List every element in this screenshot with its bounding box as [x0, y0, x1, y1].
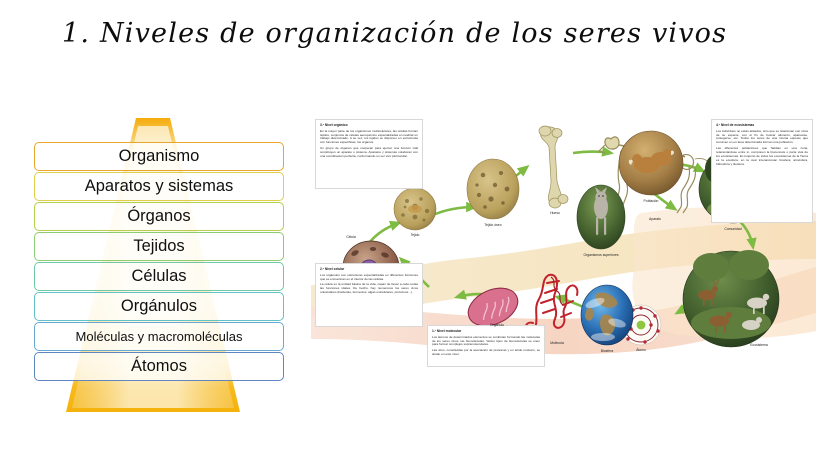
caption-organulo: Orgánulo: [490, 323, 504, 327]
caption-poblacion: Población: [644, 199, 659, 203]
textbox-paragraph: La célula es la unidad básica de la vida…: [320, 283, 418, 295]
pyramid-level-label: Aparatos y sistemas: [85, 178, 234, 195]
pyramid-level-atomos[interactable]: Átomos: [34, 352, 284, 381]
caption-molecula: Molécula: [550, 341, 564, 345]
pyramid-level-label: Órganos: [127, 208, 190, 225]
caption-hueso: Hueso: [550, 211, 560, 215]
textbox-paragraph: Las diferentes poblaciones que habitan e…: [716, 147, 808, 167]
pyramid-level-tejidos[interactable]: Tejidos: [34, 232, 284, 261]
bone-tissue-illustration: [467, 159, 519, 219]
textbox-paragraph: Los individuos no están aislados, sino q…: [716, 130, 808, 146]
textbox-heading: 1.º Nivel molecular: [432, 330, 540, 334]
pyramid-level-organismo[interactable]: Organismo: [34, 142, 284, 171]
pyramid-level-label: Moléculas y macromoléculas: [76, 330, 243, 343]
pyramid-level-label: Orgánulos: [121, 298, 197, 315]
textbox-heading: 3.º Nivel orgánico: [320, 124, 418, 128]
levels-of-organization-figure: 3.º Nivel orgánico En la mayor parte de …: [311, 117, 816, 367]
organism-illustration: [577, 185, 625, 249]
pyramid-level-celulas[interactable]: Células: [34, 262, 284, 291]
caption-tejido-oseo: Tejido óseo: [484, 223, 501, 227]
textbox-paragraph: Los átomos de determinados elementos se …: [432, 336, 540, 348]
pyramid-level-label: Organismo: [119, 148, 200, 165]
ecosystem-illustration: [683, 250, 779, 347]
textbox-paragraph: En la mayor parte de los organismos mult…: [320, 130, 418, 146]
pyramid-level-organos[interactable]: Órganos: [34, 202, 284, 231]
caption-celula: Célula: [346, 235, 356, 239]
caption-aparato: Aparato: [649, 217, 661, 221]
textbox-nivel-molecular: 1.º Nivel molecular Los átomos de determ…: [427, 325, 545, 367]
caption-atomo: Átomo: [636, 348, 646, 352]
textbox-heading: 2.º Nivel celular: [320, 268, 418, 272]
population-illustration: [619, 131, 683, 195]
textbox-paragraph: Los orgánulos son estructuras especializ…: [320, 274, 418, 282]
pyramid-level-label: Tejidos: [133, 238, 184, 255]
pyramid-diagram: Organismo Aparatos y sistemas Órganos Te…: [20, 112, 310, 422]
bone-illustration: [539, 126, 568, 208]
pyramid-level-label: Átomos: [131, 358, 187, 375]
textbox-paragraph: Las virus, constituidas por la asociació…: [432, 349, 540, 357]
pyramid-level-label: Células: [131, 268, 186, 285]
textbox-nivel-organico: 3.º Nivel orgánico En la mayor parte de …: [315, 119, 423, 189]
caption-tejido: Tejido: [411, 233, 420, 237]
textbox-nivel-ecosistemas: 4.º Nivel de ecosistemas Los individuos …: [711, 119, 813, 223]
pyramid-level-aparatos-y-sistemas[interactable]: Aparatos y sistemas: [34, 172, 284, 201]
page-title: 1. Niveles de organización de los seres …: [62, 18, 782, 49]
caption-organismos-superiores: Organismos superiores: [583, 253, 618, 257]
textbox-paragraph: Un grupo de órganos que cooperan para ej…: [320, 147, 418, 159]
caption-comunidad: Comunidad: [724, 227, 741, 231]
pyramid-level-organulos[interactable]: Orgánulos: [34, 292, 284, 321]
tissue-illustration: [394, 188, 436, 230]
pyramid-level-moleculas-y-macromoleculas[interactable]: Moléculas y macromoléculas: [34, 322, 284, 351]
textbox-nivel-celular: 2.º Nivel celular Los orgánulos son estr…: [315, 263, 423, 327]
caption-biosfera: Biosfera: [601, 349, 613, 353]
pyramid-levels: Organismo Aparatos y sistemas Órganos Te…: [34, 142, 284, 382]
biosphere-illustration: [581, 285, 633, 345]
caption-ecosistema: Ecosistema: [750, 343, 768, 347]
textbox-heading: 4.º Nivel de ecosistemas: [716, 124, 808, 128]
